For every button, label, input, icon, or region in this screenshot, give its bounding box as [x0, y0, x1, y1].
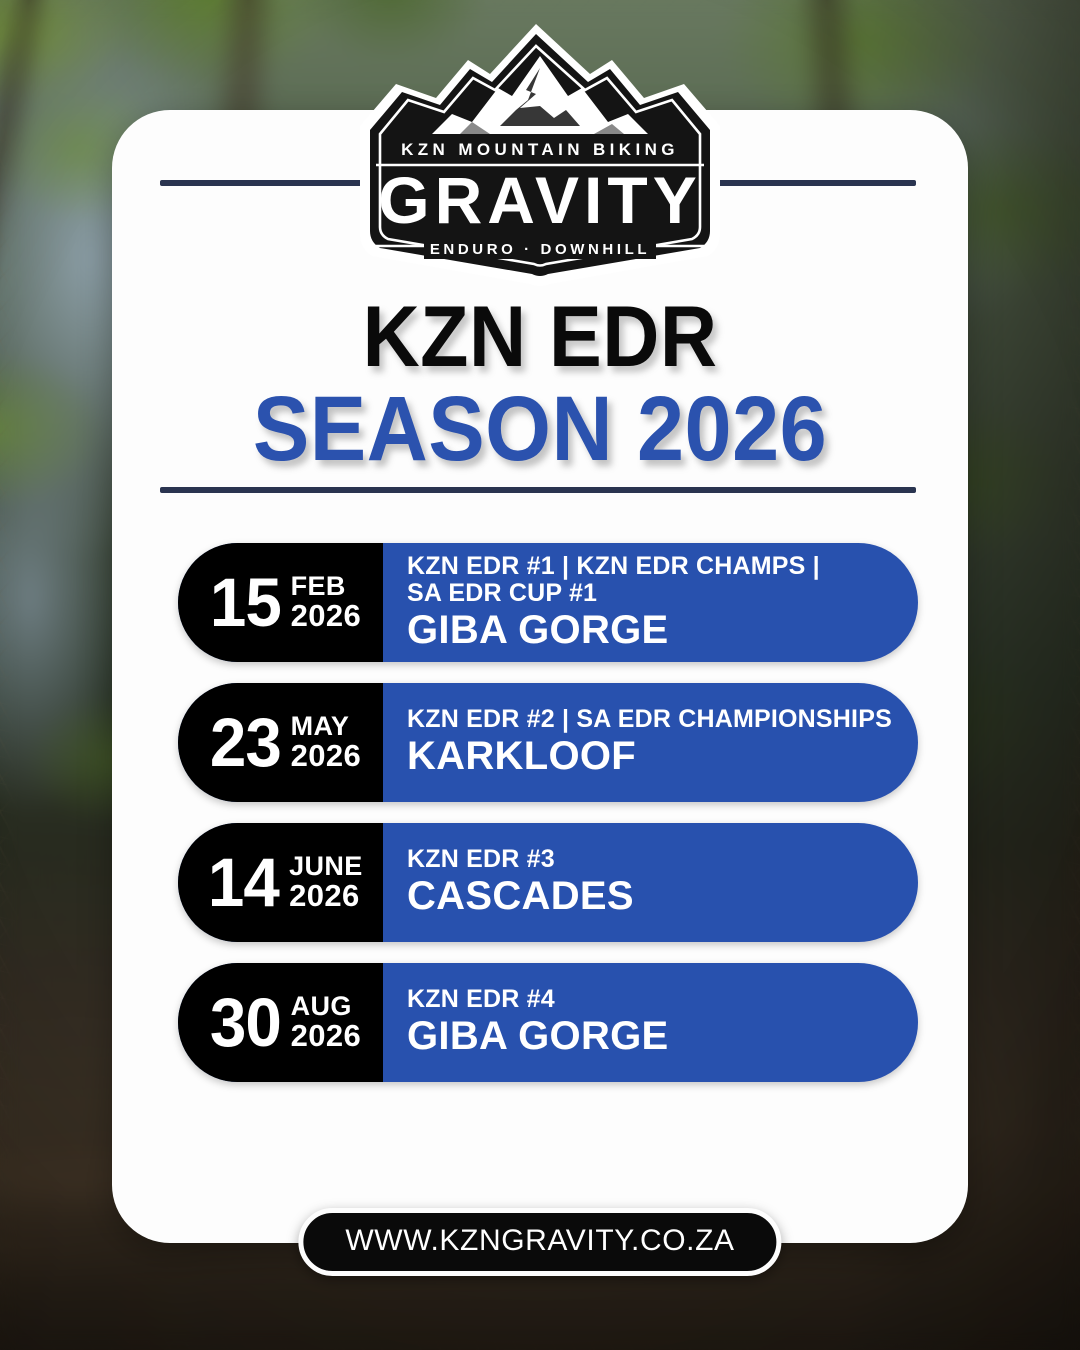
event-venue: GIBA GORGE	[407, 609, 892, 652]
event-row[interactable]: 30 AUG 2026 KZN EDR #4 GIBA GORGE	[178, 963, 918, 1082]
event-date: 30 AUG 2026	[178, 963, 383, 1082]
poster-headings: KZN EDR SEASON 2026	[0, 296, 1080, 473]
event-day: 23	[210, 708, 281, 777]
logo-wordmark: GRAVITY	[378, 163, 701, 237]
event-meta: KZN EDR #4	[407, 986, 892, 1013]
event-month: MAY	[291, 713, 350, 741]
event-info: KZN EDR #2 | SA EDR CHAMPIONSHIPS KARKLO…	[383, 683, 918, 802]
event-month: AUG	[291, 993, 352, 1021]
event-date: 14 JUNE 2026	[178, 823, 383, 942]
event-venue: GIBA GORGE	[407, 1015, 892, 1058]
divider-bottom	[160, 487, 916, 493]
event-year: 2026	[291, 740, 362, 772]
logo-bottom-text: ENDURO · DOWNHILL	[430, 241, 650, 258]
event-year: 2026	[291, 600, 362, 632]
event-row[interactable]: 14 JUNE 2026 KZN EDR #3 CASCADES	[178, 823, 918, 942]
event-meta: KZN EDR #1 | KZN EDR CHAMPS | SA EDR CUP…	[407, 553, 892, 607]
event-meta: KZN EDR #3	[407, 846, 892, 873]
logo-top-text: KZN MOUNTAIN BIKING	[401, 140, 679, 159]
event-year: 2026	[291, 1020, 362, 1052]
event-venue: CASCADES	[407, 875, 892, 918]
event-month: FEB	[291, 573, 346, 601]
event-row[interactable]: 23 MAY 2026 KZN EDR #2 | SA EDR CHAMPION…	[178, 683, 918, 802]
event-day: 14	[208, 848, 279, 917]
event-date: 15 FEB 2026	[178, 543, 383, 662]
event-row[interactable]: 15 FEB 2026 KZN EDR #1 | KZN EDR CHAMPS …	[178, 543, 918, 662]
event-info: KZN EDR #1 | KZN EDR CHAMPS | SA EDR CUP…	[383, 543, 918, 662]
gravity-logo: KZN MOUNTAIN BIKING GRAVITY ENDURO · DOW…	[340, 22, 740, 290]
event-day: 30	[210, 988, 281, 1057]
website-url-pill[interactable]: WWW.KZNGRAVITY.CO.ZA	[298, 1208, 781, 1276]
event-info: KZN EDR #4 GIBA GORGE	[383, 963, 918, 1082]
event-month: JUNE	[289, 853, 363, 881]
page-subtitle: SEASON 2026	[43, 385, 1037, 473]
event-year: 2026	[289, 880, 360, 912]
event-date: 23 MAY 2026	[178, 683, 383, 802]
page-title: KZN EDR	[43, 296, 1037, 379]
event-meta: KZN EDR #2 | SA EDR CHAMPIONSHIPS	[407, 706, 892, 733]
event-venue: KARKLOOF	[407, 735, 892, 778]
event-day: 15	[210, 568, 281, 637]
event-info: KZN EDR #3 CASCADES	[383, 823, 918, 942]
event-list: 15 FEB 2026 KZN EDR #1 | KZN EDR CHAMPS …	[178, 543, 918, 1082]
